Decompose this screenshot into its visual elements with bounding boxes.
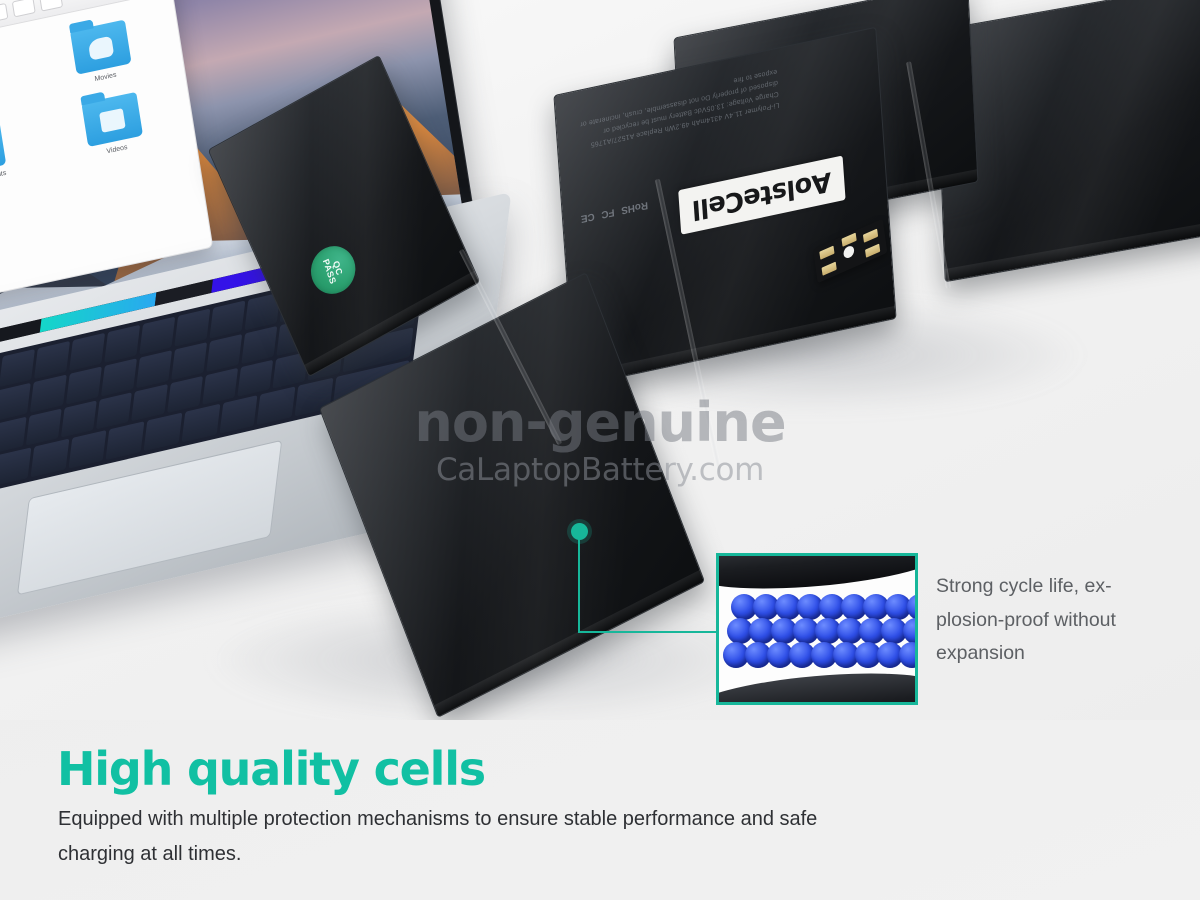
connector-hole — [843, 244, 855, 260]
blue-cells-photo — [719, 556, 915, 702]
folder-item[interactable]: Telechargements — [0, 113, 44, 196]
black-sheet-top — [719, 556, 915, 597]
product-infographic: MacBook Pro Images Movies — [0, 0, 1200, 900]
folder-label: Telechargements — [0, 169, 7, 188]
toolbar-forward-button[interactable] — [12, 0, 36, 17]
black-sheet-bottom — [719, 665, 915, 702]
caption-line-1: Strong cycle life, ex- — [936, 570, 1186, 604]
folder-item[interactable]: Movies — [34, 12, 170, 95]
feature-caption: Strong cycle life, ex- plosion-proof wit… — [936, 570, 1186, 671]
cell-closeup-inset — [716, 553, 918, 705]
toolbar-back-button[interactable] — [0, 2, 8, 22]
puzzle-folder-icon — [70, 20, 132, 75]
folder-label: Videos — [106, 144, 128, 156]
video-folder-icon — [81, 92, 143, 147]
page-title: High quality cells — [57, 742, 485, 796]
folder-grid: Images Movies Telechargements Videos — [0, 0, 198, 217]
download-folder-icon — [0, 121, 6, 176]
cell-row — [735, 594, 915, 620]
page-subtitle: Equipped with multiple protection mechan… — [58, 802, 878, 872]
folder-item[interactable]: Videos — [45, 84, 181, 167]
callout-leader-line-horizontal — [578, 631, 722, 633]
folder-item[interactable]: Images — [0, 41, 33, 124]
folder-label: Movies — [94, 72, 117, 84]
toolbar-menu-button[interactable] — [39, 0, 63, 11]
callout-leader-line-vertical — [578, 538, 580, 633]
bottom-text-block: High quality cells Equipped with multipl… — [0, 720, 1200, 900]
cell-row — [731, 618, 915, 644]
caption-line-3: expansion — [936, 637, 1186, 671]
cell-row — [727, 642, 915, 668]
product-photo: MacBook Pro Images Movies — [0, 0, 1200, 720]
caption-line-2: plosion-proof without — [936, 604, 1186, 638]
